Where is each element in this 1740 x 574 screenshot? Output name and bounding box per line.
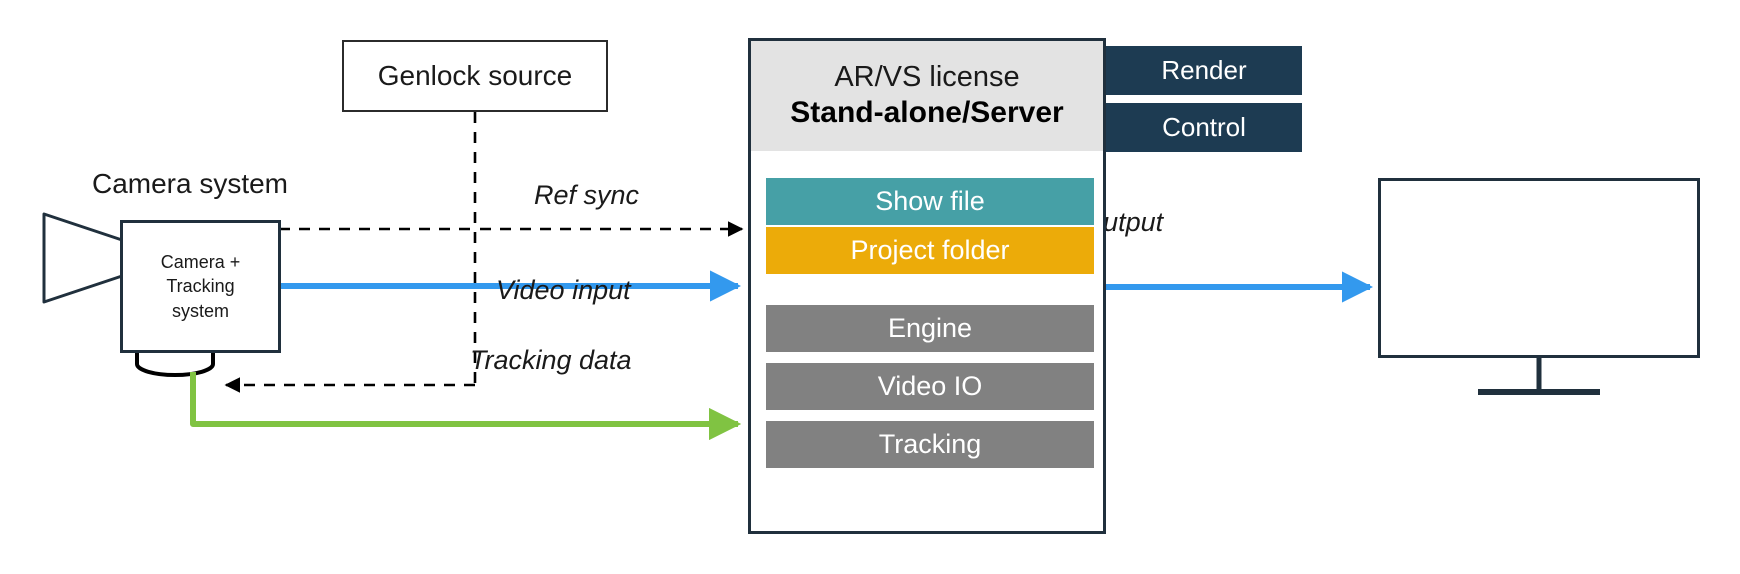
control-tag-label: Control (1162, 112, 1246, 143)
service-tracking[interactable]: Tracking (766, 421, 1094, 468)
tracking-data-line (193, 372, 738, 424)
edge-label-ref-sync: Ref sync (534, 180, 639, 211)
service-engine[interactable]: Engine (766, 305, 1094, 352)
edge-label-tracking-data: Tracking data (470, 345, 632, 376)
camera-body-line-2: Tracking (166, 274, 234, 298)
arvs-edition-label: Stand-alone/Server (790, 95, 1063, 131)
camera-tracking-system-box[interactable]: Camera + Tracking system (120, 220, 281, 353)
service-project-folder[interactable]: Project folder (766, 227, 1094, 274)
render-tag[interactable]: Render (1106, 46, 1302, 95)
genlock-source-box[interactable]: Genlock source (342, 40, 608, 112)
monitor-stand (1478, 358, 1600, 392)
camera-system-group-label: Camera system (60, 168, 320, 200)
genlock-source-label: Genlock source (378, 60, 573, 92)
camera-body-line-3: system (172, 299, 229, 323)
service-video-io[interactable]: Video IO (766, 363, 1094, 410)
display-monitor[interactable] (1378, 178, 1700, 358)
edge-label-video-input: Video input (496, 275, 631, 306)
camera-lens-icon (44, 214, 122, 302)
camera-body-line-1: Camera + (161, 250, 241, 274)
arvs-unit-header: AR/VS license Stand-alone/Server (751, 41, 1103, 151)
control-tag[interactable]: Control (1106, 103, 1302, 152)
render-tag-label: Render (1161, 55, 1246, 86)
diagram-canvas: Genlock source Camera system Camera + Tr… (0, 0, 1740, 574)
arvs-license-label: AR/VS license (834, 61, 1019, 94)
service-show-file[interactable]: Show file (766, 178, 1094, 225)
arvs-unit-box[interactable]: AR/VS license Stand-alone/Server Show fi… (748, 38, 1106, 534)
